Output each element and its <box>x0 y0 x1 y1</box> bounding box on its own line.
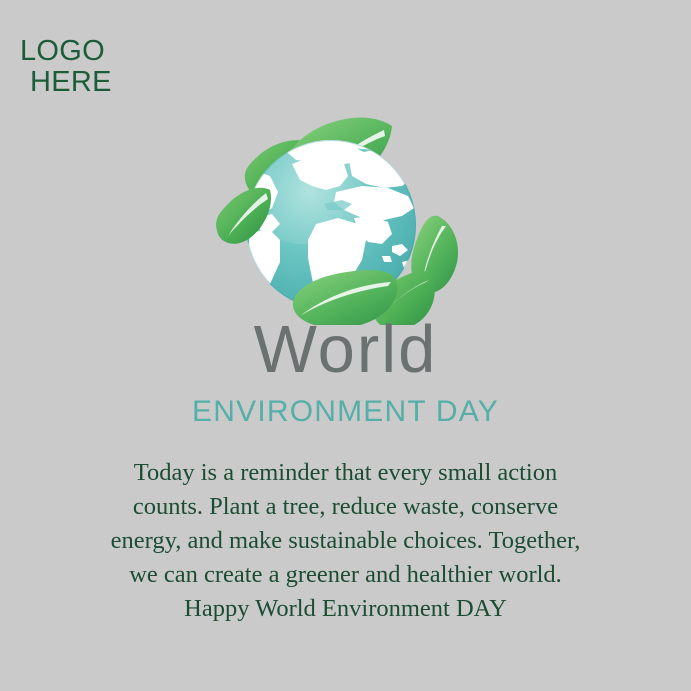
globe-with-leaves-icon <box>0 100 691 325</box>
poster-canvas: LOGO HERE <box>0 0 691 691</box>
message-line: energy, and make sustainable choices. To… <box>50 524 641 558</box>
headline-primary: World <box>0 316 691 383</box>
globe-illustration <box>196 100 496 325</box>
page-title: World ENVIRONMENT DAY <box>0 316 691 427</box>
message-body: Today is a reminder that every small act… <box>50 456 641 626</box>
message-line: counts. Plant a tree, reduce waste, cons… <box>50 490 641 524</box>
headline-secondary: ENVIRONMENT DAY <box>0 397 691 427</box>
logo-placeholder[interactable]: LOGO HERE <box>20 36 112 97</box>
logo-line-secondary: HERE <box>20 67 112 98</box>
message-line: we can create a greener and healthier wo… <box>50 558 641 592</box>
logo-line-primary: LOGO <box>20 36 112 67</box>
message-line: Today is a reminder that every small act… <box>50 456 641 490</box>
message-line: Happy World Environment DAY <box>50 592 641 626</box>
